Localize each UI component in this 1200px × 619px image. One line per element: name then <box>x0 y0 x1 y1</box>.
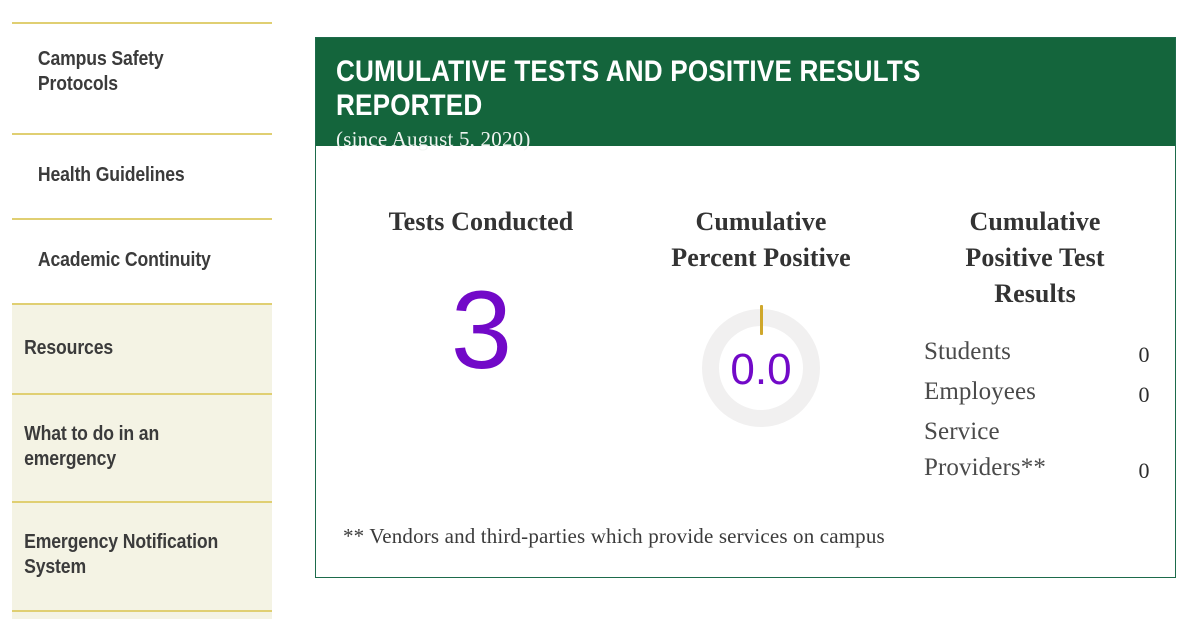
metric-title-percent-positive: Cumulative Percent Positive <box>616 204 906 276</box>
card-header-banner: CUMULATIVE TESTS AND POSITIVE RESULTS RE… <box>316 38 1175 146</box>
list-item: Service Providers** 0 <box>904 414 1166 486</box>
metric-value-tests-conducted: 3 <box>336 276 626 386</box>
metric-cumulative-percent-positive: Cumulative Percent Positive 0.0 <box>616 204 906 427</box>
list-item: Students 0 <box>904 334 1166 370</box>
result-label-service-providers: Service Providers** <box>924 414 1122 486</box>
sidebar-divider <box>12 610 272 612</box>
metric-title-positive-results: Cumulative Positive Test Results <box>904 204 1166 312</box>
sidebar-divider <box>12 393 272 395</box>
result-value-students: 0 <box>1122 342 1166 370</box>
card-title-wrap: CUMULATIVE TESTS AND POSITIVE RESULTS RE… <box>336 55 1049 123</box>
result-value-employees: 0 <box>1122 382 1166 410</box>
sidebar-item-academic-continuity[interactable]: Academic Continuity <box>0 218 285 303</box>
card-title: CUMULATIVE TESTS AND POSITIVE RESULTS RE… <box>336 55 921 122</box>
metric-tests-conducted: Tests Conducted 3 <box>336 204 626 386</box>
sidebar-item-health-guidelines[interactable]: Health Guidelines <box>0 133 285 218</box>
sidebar-item-label: Resources <box>0 335 113 360</box>
sidebar-divider <box>12 133 272 135</box>
positive-results-list: Students 0 Employees 0 Service Providers… <box>904 334 1166 486</box>
sidebar-item-what-to-do-in-an-emergency[interactable]: What to do in an emergency <box>0 393 285 501</box>
sidebar-divider <box>12 218 272 220</box>
sidebar-item-next-partial[interactable] <box>0 610 285 619</box>
sidebar-item-campus-safety-protocols[interactable]: Campus Safety Protocols <box>0 22 285 111</box>
sidebar-item-label: Academic Continuity <box>0 247 211 272</box>
sidebar-item-resources[interactable]: Resources <box>0 303 285 393</box>
sidebar-navigation: Campus Safety Protocols Health Guideline… <box>0 0 285 619</box>
card-body: Tests Conducted 3 Cumulative Percent Pos… <box>316 146 1175 577</box>
sidebar-item-label: What to do in an emergency <box>0 421 159 471</box>
sidebar-item-emergency-notification-system[interactable]: Emergency Notification System <box>0 501 285 610</box>
covid-testing-dashboard-card: CUMULATIVE TESTS AND POSITIVE RESULTS RE… <box>315 37 1176 578</box>
sidebar-divider <box>12 22 272 24</box>
card-footnote: ** Vendors and third-parties which provi… <box>343 524 885 549</box>
sidebar-divider <box>12 303 272 305</box>
sidebar-item-label: Campus Safety Protocols <box>0 46 164 96</box>
sidebar-item-label: Health Guidelines <box>0 162 185 187</box>
metric-title-tests-conducted: Tests Conducted <box>336 204 626 240</box>
result-label-employees: Employees <box>924 374 1122 410</box>
metric-cumulative-positive-results: Cumulative Positive Test Results Student… <box>904 204 1166 490</box>
list-item: Employees 0 <box>904 374 1166 410</box>
metric-value-percent-positive: 0.0 <box>702 309 820 427</box>
donut-gauge: 0.0 <box>702 309 820 427</box>
sidebar-item-label: Emergency Notification System <box>0 529 218 579</box>
result-label-students: Students <box>924 334 1122 370</box>
sidebar-divider <box>12 501 272 503</box>
result-value-service-providers: 0 <box>1122 458 1166 486</box>
